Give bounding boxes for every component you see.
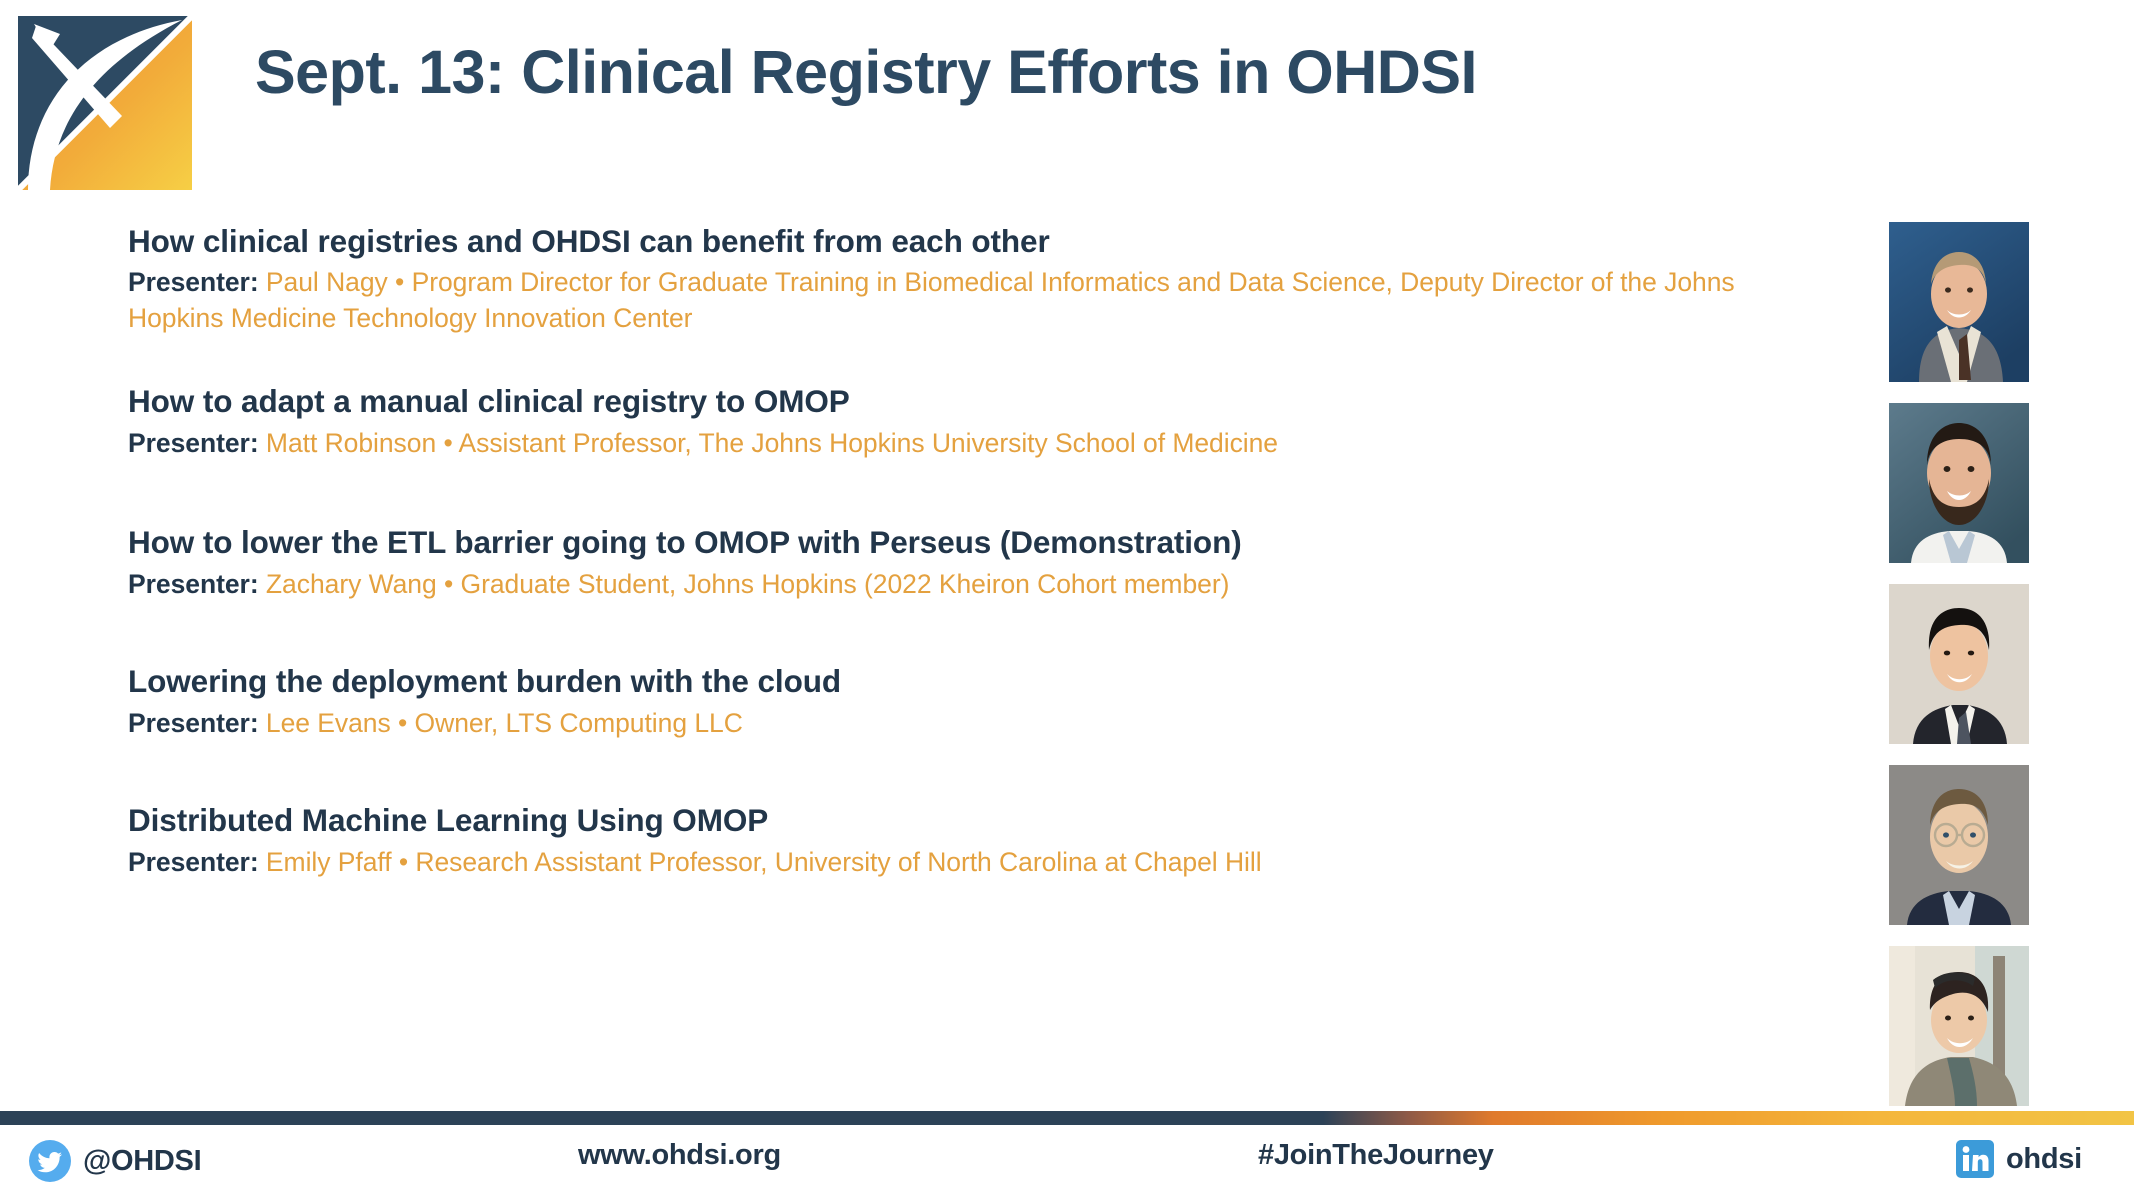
hashtag-label: #JoinTheJourney: [1258, 1139, 1494, 1172]
presenter-label: Presenter:: [128, 569, 259, 599]
session-item: How clinical registries and OHDSI can be…: [128, 222, 1828, 336]
presenter-label: Presenter:: [128, 428, 259, 458]
session-presenter: Presenter: Zachary Wang • Graduate Stude…: [128, 567, 1808, 603]
session-title: How to lower the ETL barrier going to OM…: [128, 523, 1828, 561]
twitter-handle-label: @OHDSI: [83, 1145, 201, 1178]
footer-twitter[interactable]: @OHDSI: [28, 1139, 201, 1183]
presenter-label: Presenter:: [128, 847, 259, 877]
session-title: Lowering the deployment burden with the …: [128, 662, 1828, 700]
session-title: How clinical registries and OHDSI can be…: [128, 222, 1828, 260]
linkedin-icon: [1955, 1139, 1995, 1179]
headshot-paul-nagy: [1889, 222, 2029, 382]
presenter-detail: Lee Evans • Owner, LTS Computing LLC: [266, 708, 743, 738]
footer-hashtag: #JoinTheJourney: [1258, 1139, 1494, 1172]
presenter-label: Presenter:: [128, 708, 259, 738]
session-presenter: Presenter: Emily Pfaff • Research Assist…: [128, 845, 1808, 881]
session-title: Distributed Machine Learning Using OMOP: [128, 801, 1828, 839]
headshot-column: [1889, 222, 2029, 1127]
session-list: How clinical registries and OHDSI can be…: [128, 222, 1828, 880]
page-title: Sept. 13: Clinical Registry Efforts in O…: [255, 38, 1955, 106]
headshot-zachary-wang: [1889, 584, 2029, 744]
headshot-lee-evans: [1889, 765, 2029, 925]
session-item: How to adapt a manual clinical registry …: [128, 382, 1828, 461]
footer-linkedin[interactable]: ohdsi: [1955, 1139, 2082, 1179]
session-presenter: Presenter: Lee Evans • Owner, LTS Comput…: [128, 706, 1808, 742]
headshot-emily-pfaff: [1889, 946, 2029, 1106]
session-presenter: Presenter: Matt Robinson • Assistant Pro…: [128, 426, 1808, 462]
footer-website[interactable]: www.ohdsi.org: [578, 1139, 781, 1172]
ohdsi-logo: [14, 12, 196, 194]
footer-gradient-bar: [0, 1111, 2134, 1125]
presenter-detail: Zachary Wang • Graduate Student, Johns H…: [266, 569, 1229, 599]
session-title: How to adapt a manual clinical registry …: [128, 382, 1828, 420]
session-item: Lowering the deployment burden with the …: [128, 662, 1828, 741]
footer: @OHDSI www.ohdsi.org #JoinTheJourney ohd…: [0, 1125, 2134, 1198]
headshot-matt-robinson: [1889, 403, 2029, 563]
presenter-detail: Emily Pfaff • Research Assistant Profess…: [266, 847, 1262, 877]
session-presenter: Presenter: Paul Nagy • Program Director …: [128, 265, 1808, 336]
session-item: How to lower the ETL barrier going to OM…: [128, 523, 1828, 602]
presenter-detail: Paul Nagy • Program Director for Graduat…: [128, 267, 1735, 333]
presenter-detail: Matt Robinson • Assistant Professor, The…: [266, 428, 1278, 458]
session-item: Distributed Machine Learning Using OMOP …: [128, 801, 1828, 880]
presenter-label: Presenter:: [128, 267, 259, 297]
twitter-icon: [28, 1139, 72, 1183]
linkedin-handle-label: ohdsi: [2006, 1143, 2082, 1176]
website-label: www.ohdsi.org: [578, 1139, 781, 1172]
